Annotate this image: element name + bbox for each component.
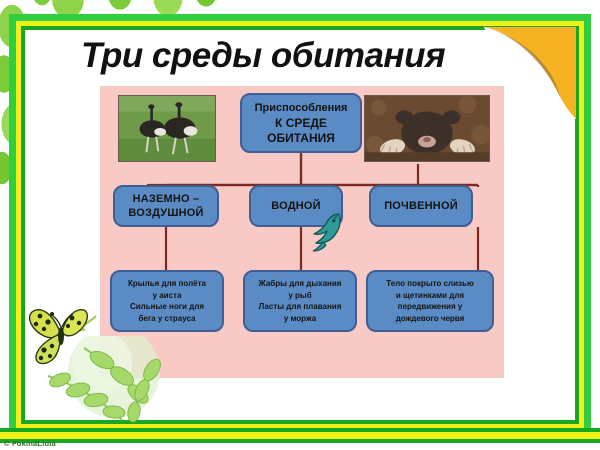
environment-box-soil[interactable]: ПОЧВЕННОЙ xyxy=(369,185,473,227)
adaptation-line: Жабры для дыхания xyxy=(259,278,342,290)
root-box-line1: Приспособления xyxy=(255,101,348,116)
environment-label-line2: ВОЗДУШНОЙ xyxy=(128,206,203,220)
mole-illustration xyxy=(365,96,489,161)
ostriches-illustration xyxy=(119,96,215,161)
mole-photo xyxy=(364,95,490,162)
credit-text: © FokinaLidia xyxy=(4,439,56,448)
slide: Три среды обитания xyxy=(0,0,600,450)
environment-label-soil: ПОЧВЕННОЙ xyxy=(384,199,458,213)
ostriches-photo xyxy=(118,95,216,162)
adaptation-box-aquatic[interactable]: Жабры для дыхания у рыб Ласты для плаван… xyxy=(243,270,357,332)
page-title: Три среды обитания xyxy=(28,36,498,76)
adaptation-box-terrestrial-air[interactable]: Крылья для полёта у аиста Сильные ноги д… xyxy=(110,270,224,332)
adaptation-box-soil[interactable]: Тело покрыто слизью и щетинками для пере… xyxy=(366,270,494,332)
adaptation-line: дождевого червя xyxy=(386,313,474,325)
root-box-line3: ОБИТАНИЯ xyxy=(255,131,348,146)
dolphin-icon xyxy=(310,209,346,253)
adaptation-line: и щетинками для xyxy=(386,290,474,302)
adaptation-line: бега у страуса xyxy=(128,313,206,325)
leaves-icon xyxy=(44,336,334,428)
bottom-stripes xyxy=(0,428,600,446)
adaptation-line: Ласты для плавания xyxy=(259,301,342,313)
adaptation-line: у аиста xyxy=(128,290,206,302)
root-box-adaptations[interactable]: Приспособления К СРЕДЕ ОБИТАНИЯ xyxy=(240,93,362,153)
adaptation-line: передвижения у xyxy=(386,301,474,313)
adaptation-line: у моржа xyxy=(259,313,342,325)
adaptation-line: у рыб xyxy=(259,290,342,302)
adaptation-line: Крылья для полёта xyxy=(128,278,206,290)
adaptation-line: Тело покрыто слизью xyxy=(386,278,474,290)
root-box-line2: К СРЕДЕ xyxy=(255,116,348,131)
adaptation-line: Сильные ноги для xyxy=(128,301,206,313)
environment-box-terrestrial-air[interactable]: НАЗЕМНО – ВОЗДУШНОЙ xyxy=(113,185,219,227)
environment-label-line1: НАЗЕМНО – xyxy=(128,192,203,206)
